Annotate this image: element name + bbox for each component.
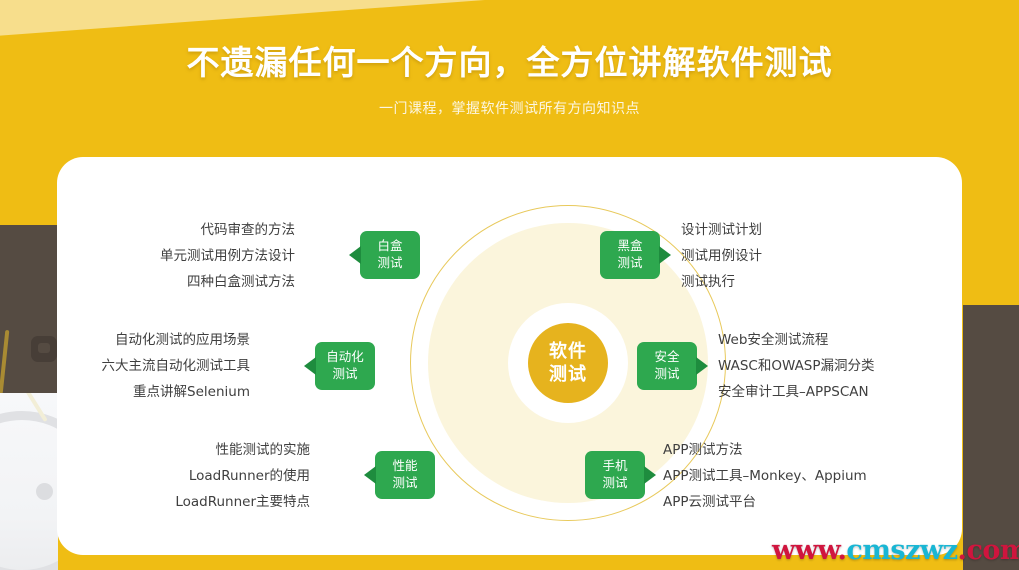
branch-items-performance: 性能测试的实施 LoadRunner的使用 LoadRunner主要特点 xyxy=(175,437,310,515)
list-item: 单元测试用例方法设计 xyxy=(160,243,295,269)
list-item: APP测试方法 xyxy=(663,437,867,463)
watermark: www.cmszwz.com xyxy=(772,535,1019,566)
branch-badge-automation[interactable]: 自动化 测试 xyxy=(315,342,375,390)
branch-badge-automation-line2: 测试 xyxy=(332,366,357,383)
branch-items-mobile: APP测试方法 APP测试工具–Monkey、Appium APP云测试平台 xyxy=(663,437,867,515)
arrow-left-icon xyxy=(349,246,361,264)
list-item: WASC和OWASP漏洞分类 xyxy=(718,353,875,379)
branch-badge-mobile[interactable]: 手机 测试 xyxy=(585,451,645,499)
branch-items-security: Web安全测试流程 WASC和OWASP漏洞分类 安全审计工具–APPSCAN xyxy=(718,327,875,405)
background-brown-right xyxy=(963,305,1019,570)
list-item: APP测试工具–Monkey、Appium xyxy=(663,463,867,489)
branch-badge-blackbox-line1: 黑盒 xyxy=(617,238,642,255)
slide-canvas: 不遗漏任何一个方向，全方位讲解软件测试 一门课程，掌握软件测试所有方向知识点 软… xyxy=(0,0,1019,570)
branch-badge-whitebox-line2: 测试 xyxy=(377,255,402,272)
branch-badge-automation-line1: 自动化 xyxy=(326,349,364,366)
list-item: 测试执行 xyxy=(681,269,762,295)
list-item: 重点讲解Selenium xyxy=(102,379,251,405)
watermark-part3: .com xyxy=(958,535,1019,566)
list-item: 设计测试计划 xyxy=(681,217,762,243)
list-item: 六大主流自动化测试工具 xyxy=(102,353,251,379)
list-item: 测试用例设计 xyxy=(681,243,762,269)
list-item: LoadRunner的使用 xyxy=(175,463,310,489)
branch-items-blackbox: 设计测试计划 测试用例设计 测试执行 xyxy=(681,217,762,295)
list-item: APP云测试平台 xyxy=(663,489,867,515)
center-node-line1: 软件 xyxy=(549,340,587,363)
arrow-right-icon xyxy=(644,466,656,484)
branch-badge-mobile-line2: 测试 xyxy=(602,475,627,492)
list-item: 安全审计工具–APPSCAN xyxy=(718,379,875,405)
branch-badge-whitebox-line1: 白盒 xyxy=(377,238,402,255)
center-node: 软件 测试 xyxy=(528,323,608,403)
branch-badge-performance-line1: 性能 xyxy=(392,458,417,475)
background-gauge-hub-icon xyxy=(36,483,53,500)
list-item: LoadRunner主要特点 xyxy=(175,489,310,515)
arrow-left-icon xyxy=(304,357,316,375)
page-title: 不遗漏任何一个方向，全方位讲解软件测试 xyxy=(0,0,1019,84)
list-item: 代码审查的方法 xyxy=(160,217,295,243)
watermark-part2: cmszwz xyxy=(846,535,957,566)
content-card: 软件 测试 白盒 测试 代码审查的方法 单元测试用例方法设计 四种白盒测试方法 … xyxy=(57,157,962,555)
branch-badge-security-line1: 安全 xyxy=(654,349,679,366)
arrow-right-icon xyxy=(696,357,708,375)
mindmap-diagram: 软件 测试 白盒 测试 代码审查的方法 单元测试用例方法设计 四种白盒测试方法 … xyxy=(57,157,962,555)
center-node-line2: 测试 xyxy=(549,363,587,386)
page-subtitle: 一门课程，掌握软件测试所有方向知识点 xyxy=(0,84,1019,118)
background-gray-zone xyxy=(0,393,58,570)
arrow-right-icon xyxy=(659,246,671,264)
arrow-left-icon xyxy=(364,466,376,484)
watermark-part1: www. xyxy=(772,535,846,566)
list-item: 自动化测试的应用场景 xyxy=(102,327,251,353)
branch-badge-performance-line2: 测试 xyxy=(392,475,417,492)
header: 不遗漏任何一个方向，全方位讲解软件测试 一门课程，掌握软件测试所有方向知识点 xyxy=(0,0,1019,118)
list-item: 性能测试的实施 xyxy=(175,437,310,463)
list-item: Web安全测试流程 xyxy=(718,327,875,353)
branch-badge-security-line2: 测试 xyxy=(654,366,679,383)
branch-items-whitebox: 代码审查的方法 单元测试用例方法设计 四种白盒测试方法 xyxy=(160,217,295,295)
branch-badge-performance[interactable]: 性能 测试 xyxy=(375,451,435,499)
background-brown-left xyxy=(0,225,58,393)
list-item: 四种白盒测试方法 xyxy=(160,269,295,295)
branch-badge-mobile-line1: 手机 xyxy=(602,458,627,475)
branch-badge-whitebox[interactable]: 白盒 测试 xyxy=(360,231,420,279)
background-brown-glyph-inner xyxy=(38,343,50,353)
branch-badge-security[interactable]: 安全 测试 xyxy=(637,342,697,390)
branch-badge-blackbox[interactable]: 黑盒 测试 xyxy=(600,231,660,279)
branch-items-automation: 自动化测试的应用场景 六大主流自动化测试工具 重点讲解Selenium xyxy=(102,327,251,405)
branch-badge-blackbox-line2: 测试 xyxy=(617,255,642,272)
